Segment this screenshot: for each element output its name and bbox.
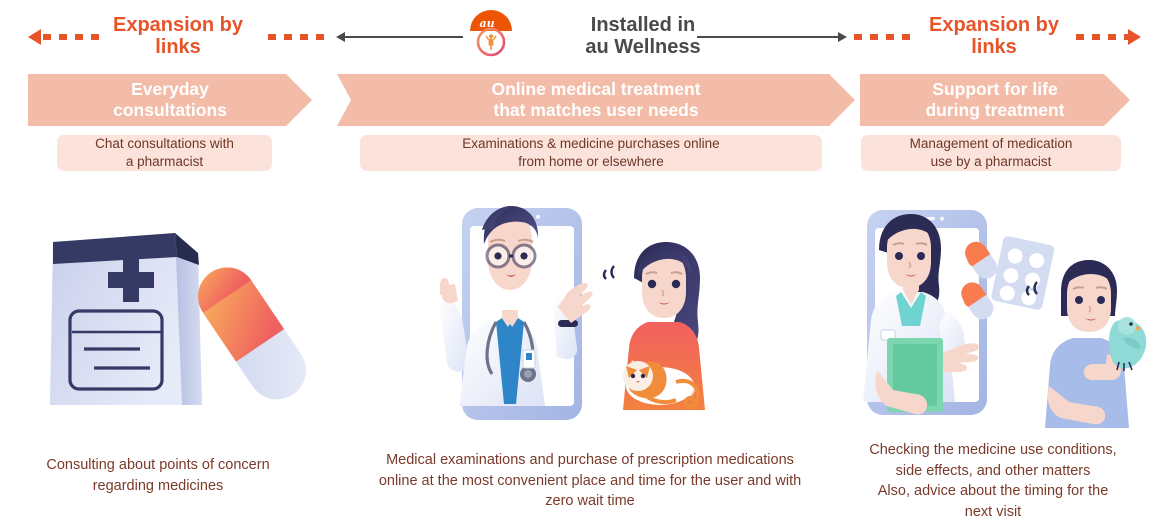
label-expansion-right: Expansion by links [918, 14, 1070, 59]
label-expansion-left: Expansion by links [102, 14, 254, 59]
illustration-medicine-box-and-capsule [30, 215, 310, 425]
connector-line-left [345, 36, 465, 38]
diagram-canvas: Expansion by links au [0, 0, 1156, 520]
banner-support-during-treatment: Support for life during treatment [860, 74, 1130, 126]
arrow-head-right-inner [838, 32, 847, 42]
dotted-line-right-outer [1076, 34, 1128, 40]
illustration-pharmacist-on-phone-with-patient [855, 200, 1155, 428]
pill-examinations-online: Examinations & medicine purchases online… [360, 135, 822, 171]
banner-online-medical-treatment: Online medical treatment that matches us… [337, 74, 855, 126]
illustration-doctor-on-phone-with-patient [440, 200, 760, 428]
banner-everyday-consultations: Everyday consultations [28, 74, 312, 126]
dotted-line-right-inner [854, 34, 916, 40]
arrow-head-right-outer [1128, 29, 1141, 45]
pill-chat-consultations: Chat consultations with a pharmacist [57, 135, 272, 171]
arrow-head-left-inner [336, 32, 345, 42]
caption-everyday-consultations: Consulting about points of concern regar… [8, 455, 308, 496]
caption-online-medical-treatment: Medical examinations and purchase of pre… [340, 450, 840, 512]
dotted-line-left-inner [268, 34, 330, 40]
arrow-head-left-outer [28, 29, 41, 45]
au-wellness-logo: au [463, 9, 519, 65]
caption-support-during-treatment: Checking the medicine use conditions, si… [838, 440, 1148, 522]
connector-line-right [697, 36, 840, 38]
dotted-line-left-outer [43, 34, 105, 40]
pill-medication-management: Management of medication use by a pharma… [861, 135, 1121, 171]
